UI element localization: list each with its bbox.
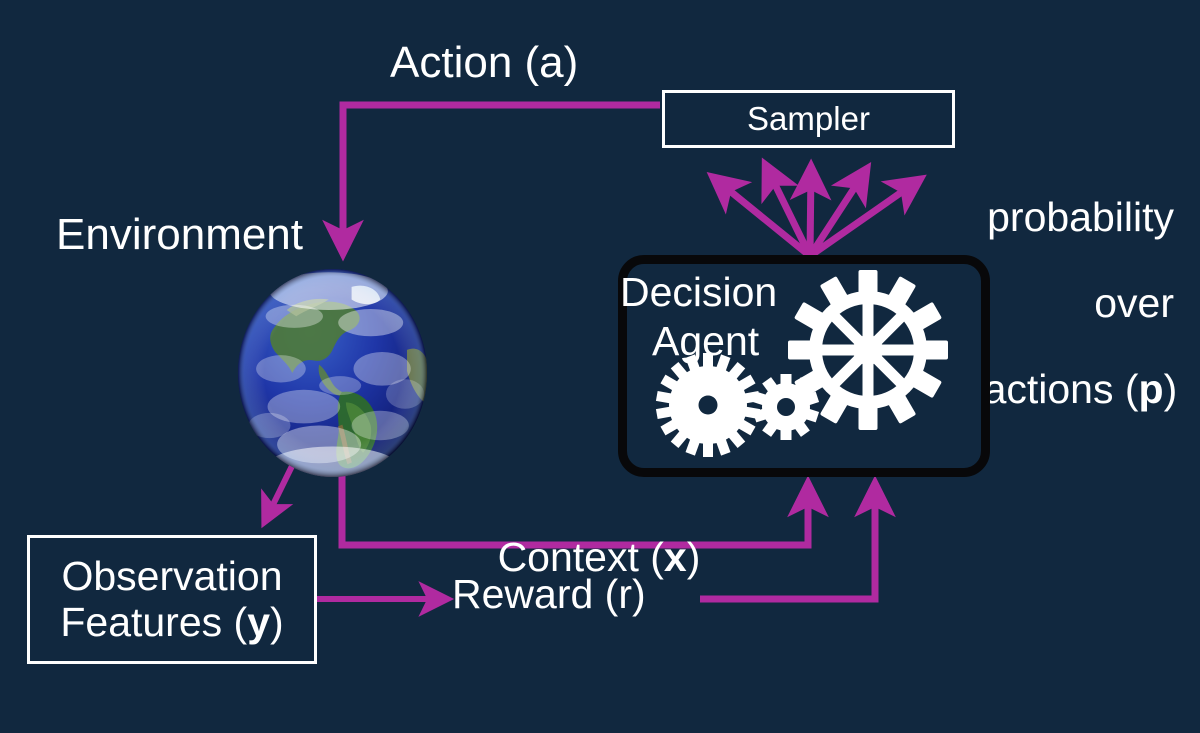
prob-arrow-1 bbox=[714, 178, 810, 256]
gear-medium-icon bbox=[656, 353, 760, 457]
observation-line-2-suffix: ) bbox=[270, 599, 284, 645]
gears-icon bbox=[618, 255, 990, 477]
edge-probability-fan bbox=[714, 166, 919, 256]
diagram-canvas: Action (a) Environment probability over … bbox=[0, 0, 1200, 733]
prob-line-3-bold: p bbox=[1139, 366, 1164, 412]
observation-line-2-prefix: Features ( bbox=[60, 599, 247, 645]
sampler-label: Sampler bbox=[747, 100, 870, 138]
observation-line-2-bold: y bbox=[247, 599, 270, 645]
label-reward: Reward (r) bbox=[452, 573, 646, 616]
context-suffix: ) bbox=[687, 534, 701, 580]
prob-arrow-5 bbox=[810, 180, 919, 256]
edge-action bbox=[343, 105, 660, 252]
prob-line-2: over bbox=[1094, 280, 1174, 326]
prob-line-3-prefix: actions ( bbox=[984, 366, 1139, 412]
observation-line-1: Observation bbox=[61, 554, 282, 600]
prob-arrow-3 bbox=[810, 168, 811, 256]
label-environment: Environment bbox=[56, 212, 303, 258]
earth-globe-icon bbox=[237, 268, 428, 478]
prob-line-1: probability bbox=[987, 194, 1174, 240]
observation-line-2: Features (y) bbox=[60, 600, 283, 646]
edge-observation bbox=[265, 466, 292, 521]
context-bold: x bbox=[664, 534, 687, 580]
gear-small-icon bbox=[753, 374, 819, 440]
sampler-box[interactable]: Sampler bbox=[662, 90, 955, 148]
prob-line-3-suffix: ) bbox=[1164, 366, 1178, 412]
prob-arrow-4 bbox=[810, 170, 866, 256]
label-action: Action (a) bbox=[390, 40, 578, 86]
observation-features-box[interactable]: Observation Features (y) bbox=[27, 535, 317, 664]
